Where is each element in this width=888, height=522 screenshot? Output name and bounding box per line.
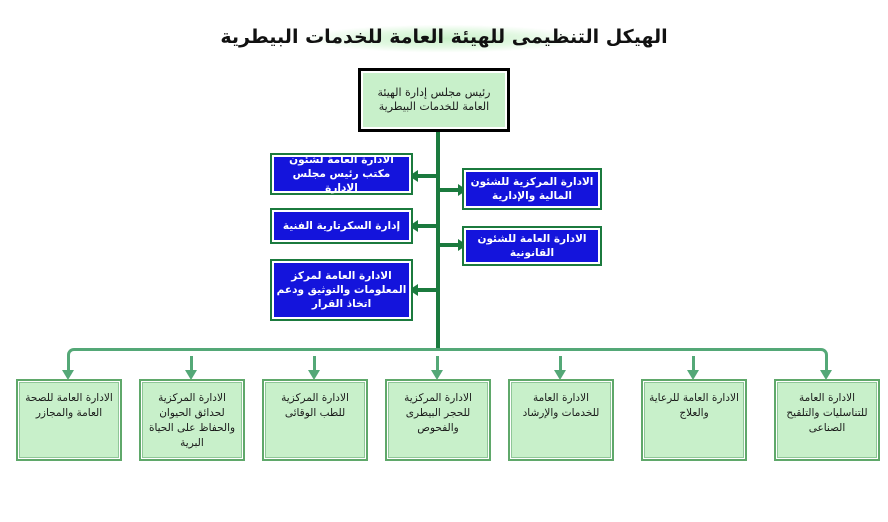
node-staff-right-2[interactable]: الادارة العامة للشئون القانونية xyxy=(462,226,602,266)
connector-stub-staff-left-2 xyxy=(418,224,438,228)
page-title: الهيكل التنظيمى للهيئة العامة للخدمات ال… xyxy=(200,20,688,54)
node-staff-left-2[interactable]: إدارة السكرتارية الفنية xyxy=(270,208,413,244)
node-division-5[interactable]: الادارة العامة للخدمات والإرشاد xyxy=(508,379,614,461)
node-division-7[interactable]: الادارة العامة للتناسليات والتلقيح الصنا… xyxy=(774,379,880,461)
node-division-6[interactable]: الادارة العامة للرعاية والعلاج xyxy=(641,379,747,461)
node-label: الادارة العامة للشئون القانونية xyxy=(464,232,600,260)
node-label: إدارة السكرتارية الفنية xyxy=(272,219,411,233)
connector-stub-staff-left-3 xyxy=(418,288,438,292)
node-division-4[interactable]: الادارة المركزية للحجر البيطرى والفحوص xyxy=(385,379,491,461)
connector-bus-horizontal xyxy=(76,348,816,351)
connector-stub-staff-left-1 xyxy=(418,174,438,178)
node-staff-right-1[interactable]: الادارة المركزية للشئون المالية والإداري… xyxy=(462,168,602,210)
connector-trunk-vertical xyxy=(436,132,440,350)
node-label: الادارة العامة لشئون مكتب رئيس مجلس الاد… xyxy=(272,153,411,195)
node-division-3[interactable]: الادارة المركزية للطب الوقائى xyxy=(262,379,368,461)
node-staff-left-1[interactable]: الادارة العامة لشئون مكتب رئيس مجلس الاد… xyxy=(270,153,413,195)
node-division-2[interactable]: الادارة المركزية لحدائق الحيوان والحفاظ … xyxy=(139,379,245,461)
node-label: الادارة العامة للخدمات والإرشاد xyxy=(510,391,612,421)
node-label: الادارة العامة للصحة العامة والمجازر xyxy=(18,391,120,421)
org-chart-canvas: الهيكل التنظيمى للهيئة العامة للخدمات ال… xyxy=(0,0,888,522)
node-staff-left-3[interactable]: الادارة العامة لمركز المعلومات والتوثيق … xyxy=(270,259,413,321)
connector-stub-staff-right-2 xyxy=(440,243,460,247)
node-label: الادارة المركزية لحدائق الحيوان والحفاظ … xyxy=(141,391,243,451)
node-root-chairman[interactable]: رئيس مجلس إدارة الهيئة العامة للخدمات ال… xyxy=(358,68,510,132)
node-label: الادارة العامة لمركز المعلومات والتوثيق … xyxy=(272,269,411,311)
node-label: الادارة المركزية للشئون المالية والإداري… xyxy=(464,175,600,203)
node-label: الادارة المركزية للطب الوقائى xyxy=(264,391,366,421)
node-label: الادارة العامة للتناسليات والتلقيح الصنا… xyxy=(776,391,878,436)
node-label: الادارة المركزية للحجر البيطرى والفحوص xyxy=(387,391,489,436)
node-division-1[interactable]: الادارة العامة للصحة العامة والمجازر xyxy=(16,379,122,461)
node-label: رئيس مجلس إدارة الهيئة العامة للخدمات ال… xyxy=(361,86,507,114)
connector-stub-staff-right-1 xyxy=(440,188,460,192)
node-label: الادارة العامة للرعاية والعلاج xyxy=(643,391,745,421)
